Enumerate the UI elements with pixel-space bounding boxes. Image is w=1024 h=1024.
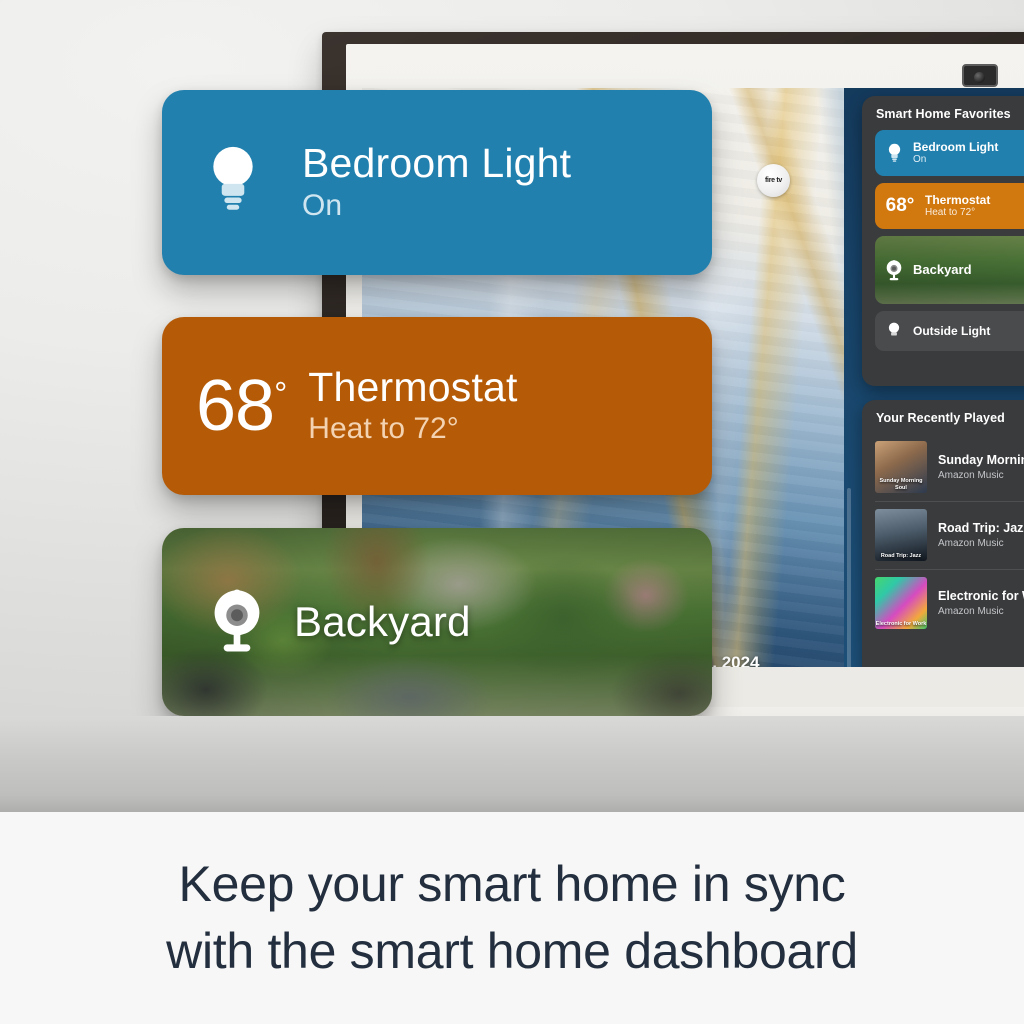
mini-name: Backyard [913,262,972,277]
hero-scene: fire tv er 9, 2024 Smart Home Favorites [0,0,1024,812]
overlay-card-thermostat[interactable]: 68° Thermostat Heat to 72° [162,317,712,495]
overlay-title: Bedroom Light [302,141,571,185]
lightbulb-icon [884,322,904,340]
lightbulb-icon [204,144,262,221]
album-art: Road Trip: Jazz [875,509,927,561]
track-source: Amazon Music [938,470,1024,482]
mini-name: Outside Light [913,324,990,338]
track-source: Amazon Music [938,538,1024,550]
smart-home-favorites-panel: Smart Home Favorites [862,96,1024,386]
mini-row-outside-light[interactable]: Outside Light [875,311,1024,351]
mini-row-thermostat[interactable]: 68° Thermostat Heat to 72° [875,183,1024,229]
list-item[interactable]: Electronic for Work Electronic for Work … [875,570,1024,637]
panel-title-recently-played: Your Recently Played [862,400,1024,434]
caption-text: Keep your smart home in sync with the sm… [126,851,898,986]
caption-line-2: with the smart home dashboard [166,923,858,979]
overlay-text-thermostat: Thermostat Heat to 72° [308,365,517,447]
mini-text-bedroom-light: Bedroom Light On [913,140,998,166]
track-meta: Electronic for Work Amazon Music [938,589,1024,618]
overlay-subtitle: Heat to 72° [308,411,517,447]
recently-played-panel: Your Recently Played Sunday Morning Soul… [862,400,1024,667]
camera-icon [206,584,268,661]
track-title: Electronic for Work [938,589,1024,604]
lightbulb-icon [884,143,904,163]
mini-row-bedroom-light[interactable]: Bedroom Light On [875,130,1024,176]
mini-sub: On [913,154,998,166]
product-lifestyle-image: fire tv er 9, 2024 Smart Home Favorites [0,0,1024,1024]
surface-shelf-edge [0,796,1024,812]
caption-line-1: Keep your smart home in sync [179,856,846,912]
track-meta: Road Trip: Jazz Amazon Music [938,521,1024,550]
overlay-card-bedroom-light[interactable]: Bedroom Light On [162,90,712,275]
album-art: Sunday Morning Soul [875,441,927,493]
overlay-temperature-value: 68 [196,366,274,446]
overlay-subtitle: On [302,188,571,224]
track-source: Amazon Music [938,606,1024,618]
mini-name: Bedroom Light [913,140,998,154]
fire-tv-badge-label: fire tv [765,177,782,184]
widget-column: Smart Home Favorites [844,88,1024,667]
mini-temperature: 68° [884,195,916,217]
fire-tv-badge-icon: fire tv [757,164,790,197]
degree-symbol: ° [274,375,286,412]
smart-home-list: Bedroom Light On 68° Thermostat Heat to … [862,130,1024,351]
mini-text-backyard: Backyard [913,262,972,277]
mini-text-outside-light: Outside Light [913,324,990,338]
mini-name: Thermostat [925,193,990,207]
album-art-label: Road Trip: Jazz [875,553,927,559]
camera-icon [884,258,904,282]
mini-text-thermostat: Thermostat Heat to 72° [925,193,990,219]
overlay-title: Thermostat [308,365,517,409]
camera-lens-icon [974,72,985,83]
mini-row-backyard-camera[interactable]: Backyard [875,236,1024,304]
list-item[interactable]: Sunday Morning Soul Sunday Morning Soul … [875,434,1024,502]
overlay-card-backyard-camera[interactable]: Backyard [162,528,712,716]
mini-sub: Heat to 72° [925,207,990,219]
overlay-title: Backyard [294,599,471,644]
album-art: Electronic for Work [875,577,927,629]
album-art-label: Sunday Morning Soul [875,478,927,491]
album-art-label: Electronic for Work [875,621,927,627]
overlay-text-bedroom-light: Bedroom Light On [302,141,571,223]
list-item[interactable]: Road Trip: Jazz Road Trip: Jazz Amazon M… [875,502,1024,570]
track-title: Sunday Morning Soul [938,453,1024,468]
panel-title-smart-home: Smart Home Favorites [862,96,1024,130]
track-title: Road Trip: Jazz [938,521,1024,536]
caption-band: Keep your smart home in sync with the sm… [0,812,1024,1024]
device-camera-icon [962,64,998,87]
recently-played-list: Sunday Morning Soul Sunday Morning Soul … [862,434,1024,637]
track-meta: Sunday Morning Soul Amazon Music [938,453,1024,482]
panel-scrollbar[interactable] [847,488,851,667]
overlay-temperature: 68° [196,370,286,442]
